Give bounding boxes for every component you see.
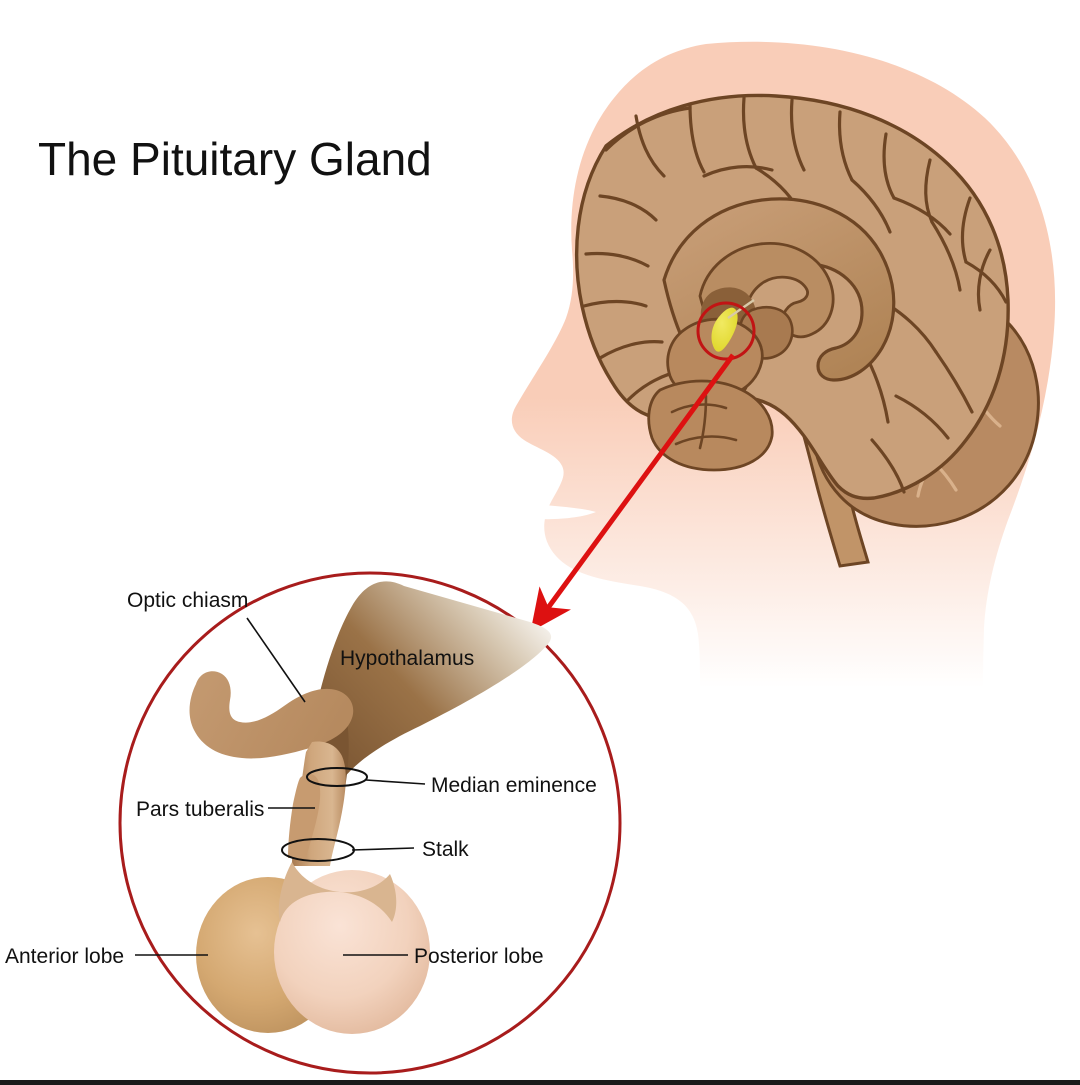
label-optic-chiasm: Optic chiasm [127, 589, 248, 612]
label-anterior-lobe: Anterior lobe [5, 945, 124, 968]
label-pars-tuberalis: Pars tuberalis [136, 798, 264, 821]
bottom-bar [0, 1080, 1080, 1085]
label-stalk: Stalk [422, 838, 469, 861]
label-hypothalamus: Hypothalamus [340, 647, 474, 670]
illustration-stage: The Pituitary Gland Optic chiasm Hypotha… [0, 0, 1080, 1085]
label-posterior-lobe: Posterior lobe [414, 945, 544, 968]
page-title: The Pituitary Gland [38, 133, 432, 185]
label-median-eminence: Median eminence [431, 774, 597, 797]
